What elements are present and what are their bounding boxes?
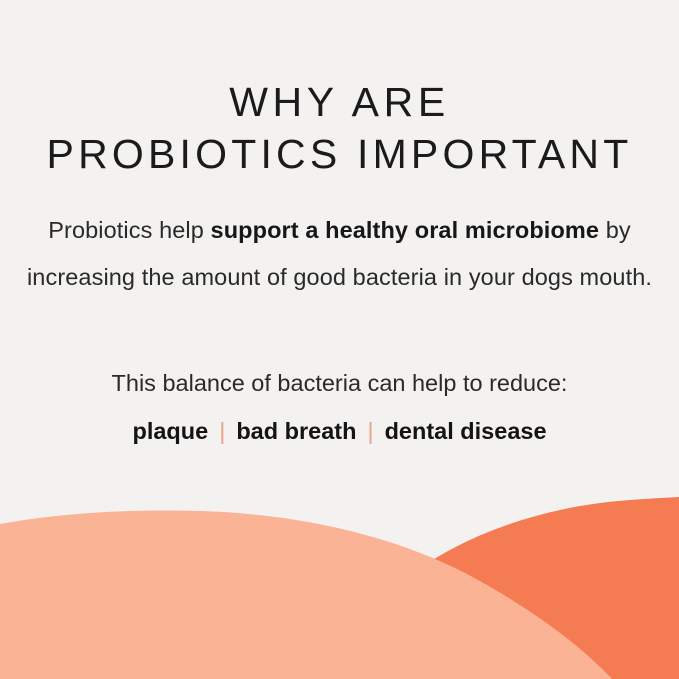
headline-line-2: PROBIOTICS IMPORTANT <box>0 128 679 180</box>
paragraph-primary-segment-1: Probiotics help <box>48 217 210 243</box>
benefit-item-dental-disease: dental disease <box>385 414 547 448</box>
headline-line-1: WHY ARE <box>0 76 679 128</box>
benefit-separator-2: | <box>356 414 384 448</box>
wave-dark-shape <box>338 497 679 679</box>
paragraph-secondary: This balance of bacteria can help to red… <box>0 366 679 400</box>
page-title: WHY ARE PROBIOTICS IMPORTANT <box>0 76 679 180</box>
benefit-item-bad-breath: bad breath <box>236 414 356 448</box>
paragraph-primary-emphasis: support a healthy oral microbiome <box>211 217 600 243</box>
benefit-separator-1: | <box>208 414 236 448</box>
poster-canvas: WHY ARE PROBIOTICS IMPORTANT Probiotics … <box>0 0 679 679</box>
benefit-list: plaque|bad breath|dental disease <box>0 414 679 448</box>
wave-light-shape <box>0 511 612 679</box>
paragraph-primary: Probiotics help support a healthy oral m… <box>0 207 679 301</box>
benefit-item-plaque: plaque <box>132 414 208 448</box>
